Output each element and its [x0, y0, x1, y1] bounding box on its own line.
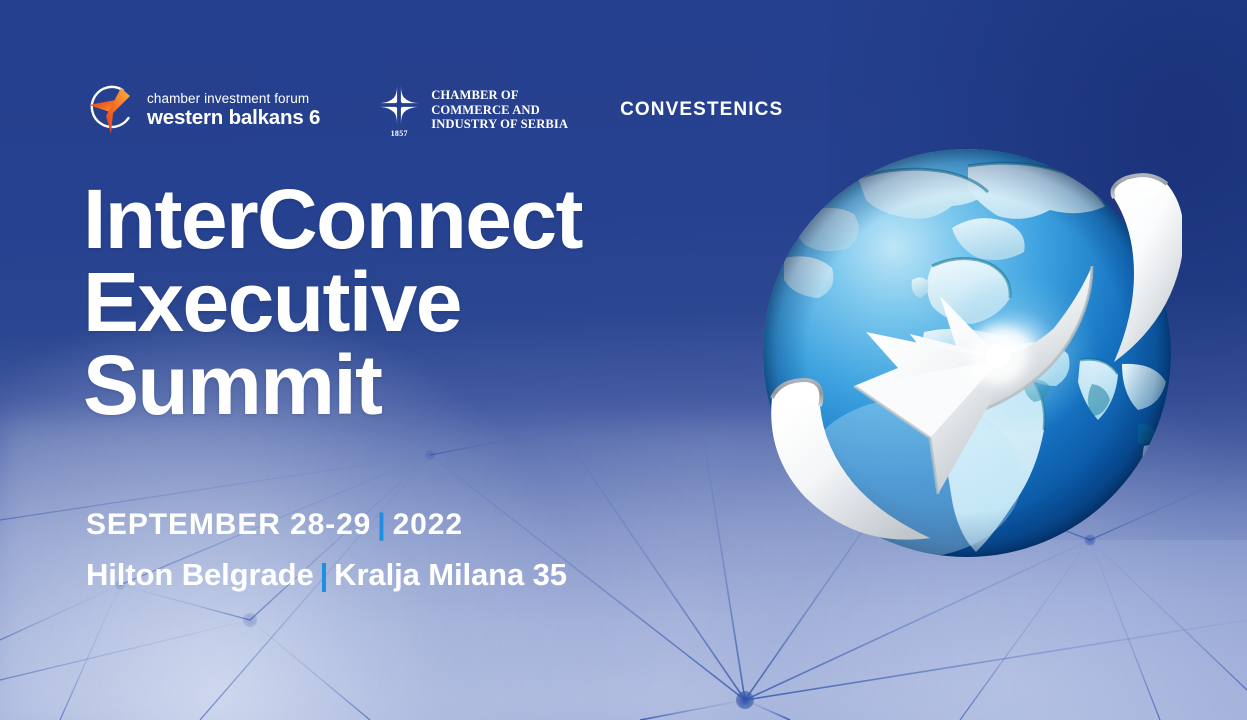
venue-separator: |: [314, 557, 335, 592]
ccis-name: CHAMBER OF COMMERCE AND INDUSTRY OF SERB…: [431, 88, 568, 133]
wb6-name: western balkans 6: [147, 108, 320, 129]
event-date-year: 2022: [393, 508, 463, 541]
event-venue: Hilton Belgrade|Kralja Milana 35: [86, 557, 567, 593]
logo-convestenics: CONVESTENICS: [620, 99, 783, 121]
venue-name: Hilton Belgrade: [86, 557, 314, 592]
page-title-line-2: Executive: [83, 261, 582, 344]
four-petal-star-icon: 1857: [376, 83, 422, 137]
poster-canvas: chamber investment forum western balkans…: [0, 0, 1247, 720]
event-date: SEPTEMBER 28-29|2022: [86, 508, 463, 542]
ccis-name-line1: CHAMBER OF: [431, 88, 568, 103]
page-title-line-1: InterConnect: [83, 178, 582, 261]
convestenics-wordmark: CONVESTENICS: [620, 99, 783, 121]
wb6-tagline: chamber investment forum: [147, 92, 320, 106]
orange-arrow-circle-icon: [88, 82, 140, 138]
globe-with-arrows-illustration: [762, 148, 1182, 566]
ccis-name-line2: COMMERCE AND: [431, 103, 568, 118]
page-title-line-3: Summit: [83, 344, 582, 427]
venue-address: Kralja Milana 35: [334, 557, 567, 592]
date-separator: |: [371, 508, 392, 541]
ccis-established-year: 1857: [376, 129, 422, 138]
partner-logo-row: chamber investment forum western balkans…: [88, 82, 783, 138]
logo-chamber-of-commerce-serbia: 1857 CHAMBER OF COMMERCE AND INDUSTRY OF…: [376, 83, 568, 137]
ccis-name-line3: INDUSTRY OF SERBIA: [431, 117, 568, 132]
event-date-days: SEPTEMBER 28-29: [86, 508, 371, 541]
page-title: InterConnect Executive Summit: [83, 178, 582, 427]
logo-western-balkans-6: chamber investment forum western balkans…: [88, 82, 320, 138]
